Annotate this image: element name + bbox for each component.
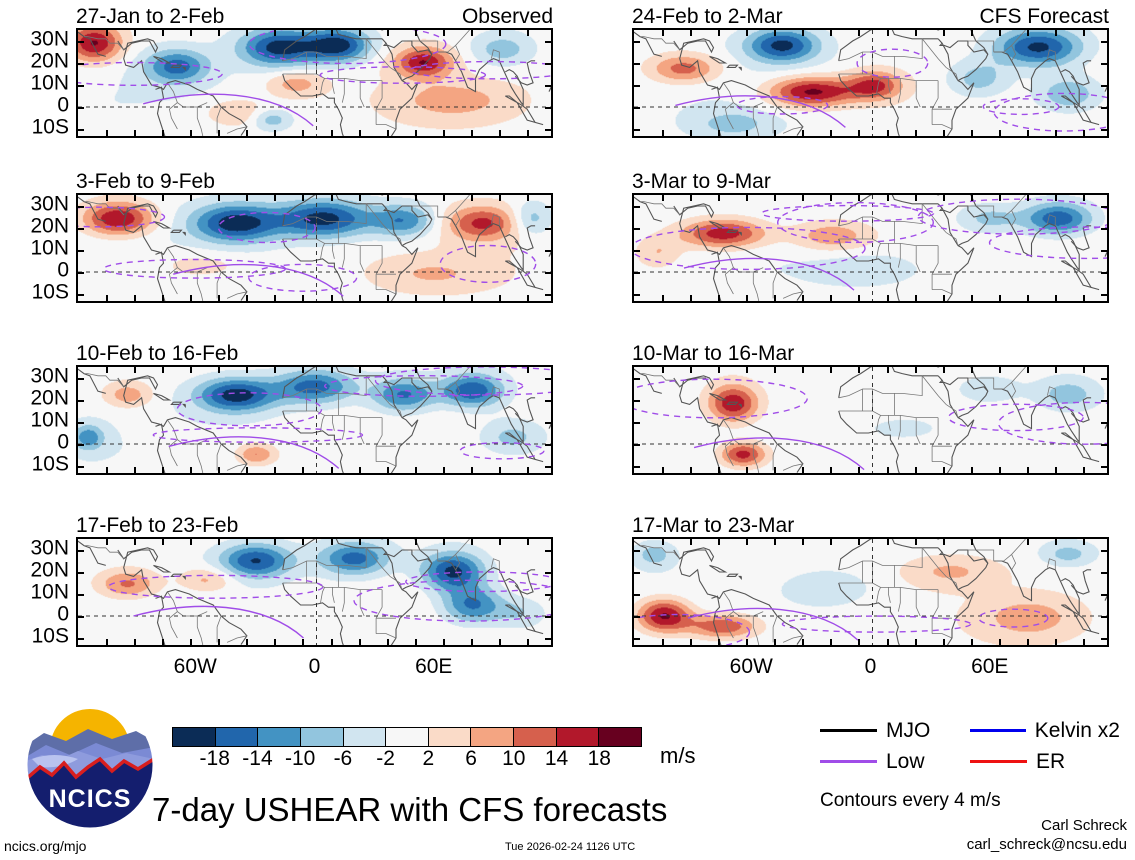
y-axis-tick-label: 30N	[30, 538, 69, 559]
axis-tick	[999, 30, 1001, 36]
axis-tick	[545, 228, 551, 230]
wave-contours	[634, 609, 1048, 647]
axis-tick	[1101, 638, 1107, 640]
axis-tick	[1055, 195, 1057, 201]
axis-tick	[718, 367, 720, 373]
axis-tick	[545, 638, 551, 640]
axis-tick	[830, 295, 832, 301]
axis-tick	[162, 130, 164, 136]
low-contour	[990, 227, 1110, 258]
low-contour	[634, 227, 865, 269]
legend-item-kelvin: Kelvin x2	[970, 720, 1120, 741]
axis-tick	[802, 130, 804, 136]
axis-tick	[1101, 444, 1107, 446]
y-axis-tick-label: 30N	[30, 29, 69, 50]
map-overlay	[78, 195, 553, 303]
colorbar-swatch	[173, 728, 216, 746]
axis-tick	[78, 638, 84, 640]
axis-tick	[915, 467, 917, 473]
axis-tick	[662, 30, 664, 36]
axis-tick	[858, 467, 860, 473]
map-overlay	[634, 539, 1109, 647]
axis-tick	[499, 130, 501, 136]
axis-tick	[302, 539, 304, 545]
axis-tick	[746, 195, 748, 201]
colorbar-swatch	[344, 728, 387, 746]
axis-tick	[887, 30, 889, 36]
mjo-line-icon	[820, 729, 877, 732]
axis-tick	[634, 41, 640, 43]
axis-tick	[634, 107, 640, 109]
axis-tick	[218, 130, 220, 136]
axis-tick	[718, 639, 720, 645]
axis-tick	[134, 467, 136, 473]
axis-tick	[802, 195, 804, 201]
axis-tick	[331, 130, 333, 136]
axis-tick	[218, 30, 220, 36]
panel-title: 27-Jan to 2-Feb	[76, 6, 224, 27]
axis-tick	[331, 467, 333, 473]
coastlines	[78, 195, 553, 303]
axis-tick	[1027, 130, 1029, 136]
axis-tick	[774, 195, 776, 201]
axis-tick	[106, 539, 108, 545]
axis-tick	[746, 539, 748, 545]
axis-tick	[887, 639, 889, 645]
axis-tick	[999, 295, 1001, 301]
low-contour	[634, 379, 807, 418]
axis-tick	[774, 30, 776, 36]
axis-tick	[527, 195, 529, 201]
axis-tick	[78, 85, 84, 87]
axis-tick	[545, 41, 551, 43]
axis-tick	[1055, 130, 1057, 136]
colorbar-tick-label: -14	[242, 748, 272, 770]
coastlines	[634, 367, 1109, 475]
axis-tick	[443, 367, 445, 373]
low-contour	[999, 402, 1109, 444]
axis-tick	[915, 130, 917, 136]
axis-tick	[634, 466, 640, 468]
axis-tick	[78, 400, 84, 402]
axis-tick	[1055, 639, 1057, 645]
axis-tick	[887, 467, 889, 473]
axis-tick	[106, 195, 108, 201]
axis-tick	[662, 467, 664, 473]
axis-tick	[634, 63, 640, 65]
axis-tick	[634, 594, 640, 596]
axis-tick	[387, 539, 389, 545]
axis-tick	[1101, 206, 1107, 208]
axis-tick	[78, 572, 84, 574]
axis-tick	[915, 30, 917, 36]
axis-tick	[415, 30, 417, 36]
axis-tick	[1083, 539, 1085, 545]
colorbar-swatch	[258, 728, 301, 746]
map-panel: 27-Jan to 2-FebObserved30N20N10N010S	[76, 28, 553, 138]
axis-tick	[545, 616, 551, 618]
axis-tick	[1101, 466, 1107, 468]
axis-tick	[634, 378, 640, 380]
map-frame	[76, 537, 553, 647]
axis-tick	[246, 295, 248, 301]
low-contour-solid	[143, 94, 313, 126]
axis-tick	[746, 467, 748, 473]
axis-tick	[1101, 129, 1107, 131]
axis-tick	[78, 228, 84, 230]
legend-label: Kelvin x2	[1035, 720, 1120, 741]
axis-tick	[162, 639, 164, 645]
axis-tick	[78, 466, 84, 468]
panel-title: 17-Feb to 23-Feb	[76, 515, 238, 536]
y-axis-tick-label: 10S	[32, 282, 69, 303]
axis-tick	[545, 85, 551, 87]
low-contour	[410, 62, 553, 79]
axis-tick	[218, 295, 220, 301]
axis-tick	[274, 295, 276, 301]
axis-tick	[634, 400, 640, 402]
axis-tick	[78, 444, 84, 446]
y-axis-tick-label: 10S	[32, 117, 69, 138]
axis-tick	[387, 295, 389, 301]
axis-tick	[527, 367, 529, 373]
low-contour	[994, 93, 1109, 131]
axis-tick	[190, 30, 192, 36]
axis-tick	[471, 195, 473, 201]
axis-tick	[78, 63, 84, 65]
axis-tick	[190, 367, 192, 373]
author-credit: Carl Schreck	[1041, 817, 1127, 834]
axis-tick	[134, 367, 136, 373]
axis-tick	[802, 467, 804, 473]
colorbar-swatch	[514, 728, 557, 746]
axis-tick	[545, 107, 551, 109]
axis-tick	[718, 30, 720, 36]
panel-title: 3-Feb to 9-Feb	[76, 171, 215, 192]
axis-tick	[471, 30, 473, 36]
colorbar-swatch	[216, 728, 259, 746]
axis-tick	[527, 639, 529, 645]
axis-tick	[634, 250, 640, 252]
legend-label: Low	[886, 751, 925, 772]
colorbar-tick-label: 2	[423, 748, 435, 770]
colorbar-swatch	[301, 728, 344, 746]
axis-tick	[887, 367, 889, 373]
axis-tick	[246, 195, 248, 201]
axis-tick	[915, 195, 917, 201]
axis-tick	[443, 295, 445, 301]
axis-tick	[1027, 195, 1029, 201]
low-contour	[857, 49, 928, 77]
axis-tick	[359, 467, 361, 473]
axis-tick	[106, 367, 108, 373]
map-overlay	[634, 195, 1109, 303]
axis-tick	[830, 30, 832, 36]
axis-tick	[78, 250, 84, 252]
colorbar-units-label: m/s	[660, 743, 695, 769]
axis-tick	[634, 550, 640, 552]
timestamp: Tue 2026-02-24 1126 UTC	[505, 841, 635, 853]
axis-tick	[331, 539, 333, 545]
axis-tick	[943, 130, 945, 136]
axis-tick	[774, 130, 776, 136]
axis-tick	[1083, 467, 1085, 473]
y-axis-tick-label: 0	[57, 432, 69, 453]
axis-tick	[106, 639, 108, 645]
legend-item-er: ER	[970, 751, 1120, 772]
axis-tick	[690, 295, 692, 301]
axis-tick	[662, 539, 664, 545]
low-contour	[108, 575, 322, 598]
axis-tick	[527, 295, 529, 301]
axis-tick	[1027, 467, 1029, 473]
axis-tick	[690, 30, 692, 36]
x-axis-tick-label: 0	[309, 656, 321, 677]
axis-tick	[499, 467, 501, 473]
axis-tick	[78, 422, 84, 424]
axis-tick	[106, 467, 108, 473]
axis-tick	[443, 467, 445, 473]
axis-tick	[971, 539, 973, 545]
low-contour	[325, 376, 523, 397]
low-contour-solid	[169, 437, 339, 469]
coastlines	[634, 30, 1109, 138]
axis-tick	[830, 539, 832, 545]
axis-tick	[1101, 272, 1107, 274]
axis-tick	[471, 130, 473, 136]
colorbar-tick-label: 10	[502, 748, 525, 770]
colorbar-swatch	[557, 728, 600, 746]
axis-tick	[78, 41, 84, 43]
axis-tick	[830, 467, 832, 473]
axis-tick	[774, 367, 776, 373]
axis-tick	[499, 367, 501, 373]
axis-tick	[634, 572, 640, 574]
axis-tick	[662, 295, 664, 301]
axis-tick	[858, 639, 860, 645]
map-frame	[76, 365, 553, 475]
axis-tick	[162, 195, 164, 201]
axis-tick	[331, 639, 333, 645]
axis-tick	[971, 130, 973, 136]
axis-tick	[943, 295, 945, 301]
axis-tick	[359, 295, 361, 301]
colorbar-tick-label: 18	[588, 748, 611, 770]
axis-tick	[302, 467, 304, 473]
wave-contours	[153, 367, 553, 468]
axis-tick	[134, 195, 136, 201]
map-frame	[632, 193, 1109, 303]
y-axis-tick-label: 0	[57, 604, 69, 625]
contour-legend: MJO Kelvin x2 Low ER	[820, 715, 1120, 777]
axis-tick	[971, 467, 973, 473]
axis-tick	[190, 467, 192, 473]
axis-tick	[471, 539, 473, 545]
axis-tick	[415, 295, 417, 301]
axis-tick	[1101, 550, 1107, 552]
legend-label: MJO	[886, 720, 930, 741]
axis-tick	[106, 295, 108, 301]
author-email: carl_schreck@ncsu.edu	[967, 836, 1127, 853]
axis-tick	[302, 367, 304, 373]
axis-tick	[858, 195, 860, 201]
axis-tick	[246, 130, 248, 136]
kelvin-line-icon	[970, 729, 1026, 732]
x-axis-tick-label: 60E	[415, 656, 452, 677]
axis-tick	[746, 295, 748, 301]
y-axis-tick-label: 30N	[30, 366, 69, 387]
axis-tick	[274, 195, 276, 201]
x-axis-tick-label: 60W	[174, 656, 217, 677]
axis-tick	[662, 367, 664, 373]
axis-tick	[774, 295, 776, 301]
axis-tick	[718, 295, 720, 301]
axis-tick	[499, 295, 501, 301]
axis-tick	[302, 130, 304, 136]
panel-title: 3-Mar to 9-Mar	[632, 171, 771, 192]
axis-tick	[134, 539, 136, 545]
y-axis-tick-label: 10S	[32, 454, 69, 475]
axis-tick	[915, 295, 917, 301]
low-contour-solid	[694, 438, 864, 470]
x-axis-tick-label: 60E	[971, 656, 1008, 677]
axis-tick	[1027, 367, 1029, 373]
axis-tick	[545, 444, 551, 446]
colorbar-tick-label: 6	[465, 748, 477, 770]
map-overlay	[634, 367, 1109, 475]
axis-tick	[415, 130, 417, 136]
ncics-logo: NCICS	[26, 701, 154, 829]
axis-tick	[634, 206, 640, 208]
colorbar-swatch	[429, 728, 472, 746]
axis-tick	[1101, 572, 1107, 574]
axis-tick	[443, 639, 445, 645]
axis-tick	[943, 467, 945, 473]
axis-tick	[246, 30, 248, 36]
axis-tick	[415, 639, 417, 645]
axis-tick	[830, 195, 832, 201]
axis-tick	[387, 130, 389, 136]
axis-tick	[887, 295, 889, 301]
axis-tick	[718, 539, 720, 545]
axis-tick	[302, 30, 304, 36]
map-overlay	[78, 30, 553, 138]
map-frame	[76, 193, 553, 303]
axis-tick	[1101, 422, 1107, 424]
coastlines	[634, 539, 1109, 647]
axis-tick	[78, 594, 84, 596]
map-frame	[632, 365, 1109, 475]
panel-title: 10-Feb to 16-Feb	[76, 343, 238, 364]
axis-tick	[190, 195, 192, 201]
map-panel: 24-Feb to 2-MarCFS Forecast	[632, 28, 1109, 138]
axis-tick	[858, 295, 860, 301]
axis-tick	[162, 367, 164, 373]
axis-tick	[331, 195, 333, 201]
y-axis-tick-label: 0	[57, 95, 69, 116]
axis-tick	[971, 639, 973, 645]
axis-tick	[746, 30, 748, 36]
coastlines	[634, 195, 1109, 303]
axis-tick	[78, 129, 84, 131]
axis-tick	[1083, 367, 1085, 373]
axis-tick	[545, 294, 551, 296]
axis-tick	[359, 367, 361, 373]
axis-tick	[359, 539, 361, 545]
map-overlay	[78, 367, 553, 475]
wave-contours	[634, 199, 1109, 290]
axis-tick	[471, 467, 473, 473]
axis-tick	[1027, 639, 1029, 645]
axis-tick	[545, 594, 551, 596]
axis-tick	[443, 30, 445, 36]
axis-tick	[78, 616, 84, 618]
map-overlay	[634, 30, 1109, 138]
axis-tick	[471, 639, 473, 645]
axis-tick	[274, 130, 276, 136]
axis-tick	[106, 130, 108, 136]
axis-tick	[802, 30, 804, 36]
axis-tick	[331, 295, 333, 301]
axis-tick	[359, 130, 361, 136]
axis-tick	[1101, 616, 1107, 618]
axis-tick	[190, 639, 192, 645]
axis-tick	[78, 550, 84, 552]
axis-tick	[662, 639, 664, 645]
axis-tick	[802, 295, 804, 301]
axis-tick	[1055, 30, 1057, 36]
axis-tick	[1083, 195, 1085, 201]
map-panel: 10-Feb to 16-Feb30N20N10N010S	[76, 365, 553, 475]
legend-row: MJO Kelvin x2	[820, 715, 1120, 746]
coastlines	[78, 539, 553, 647]
colorbar-swatch	[599, 728, 641, 746]
axis-tick	[999, 195, 1001, 201]
low-contour	[460, 443, 544, 459]
axis-tick	[858, 539, 860, 545]
axis-tick	[943, 639, 945, 645]
axis-tick	[274, 539, 276, 545]
axis-tick	[106, 30, 108, 36]
axis-tick	[1055, 539, 1057, 545]
axis-tick	[1027, 295, 1029, 301]
legend-label: ER	[1036, 751, 1065, 772]
site-url: ncics.org/mjo	[4, 838, 86, 854]
axis-tick	[802, 539, 804, 545]
axis-tick	[1101, 250, 1107, 252]
axis-tick	[134, 30, 136, 36]
y-axis-tick-label: 20N	[30, 388, 69, 409]
axis-tick	[1101, 228, 1107, 230]
axis-tick	[302, 295, 304, 301]
axis-tick	[359, 639, 361, 645]
wave-contours	[78, 30, 553, 126]
axis-tick	[415, 367, 417, 373]
axis-tick	[943, 30, 945, 36]
axis-tick	[999, 467, 1001, 473]
axis-tick	[634, 294, 640, 296]
axis-tick	[830, 367, 832, 373]
colorbar-tick-label: -18	[200, 748, 230, 770]
panel-title: 17-Mar to 23-Mar	[632, 515, 794, 536]
axis-tick	[545, 466, 551, 468]
axis-tick	[718, 467, 720, 473]
axis-tick	[662, 195, 664, 201]
map-panel: 10-Mar to 16-Mar	[632, 365, 1109, 475]
panel-column-header: CFS Forecast	[979, 6, 1109, 27]
axis-tick	[858, 367, 860, 373]
axis-tick	[545, 378, 551, 380]
